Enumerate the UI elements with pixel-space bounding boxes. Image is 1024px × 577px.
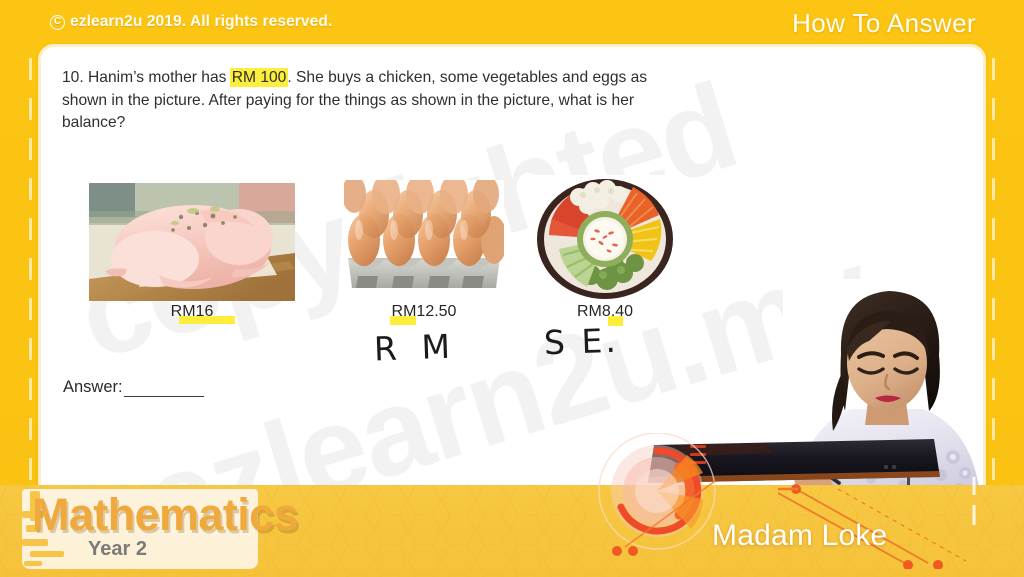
- header-bar: C ezlearn2u 2019. All rights reserved. H…: [0, 0, 1024, 48]
- caption-chicken-wrap: RM16: [89, 303, 295, 321]
- chicken-photo: [89, 183, 295, 301]
- veg-price: RM8.40: [577, 303, 633, 320]
- copyright-notice: C ezlearn2u 2019. All rights reserved.: [50, 13, 332, 31]
- slide-card: copyrighted ezlearn2u.my 10. Hanim’s mot…: [38, 44, 986, 490]
- copyright-text: ezlearn2u 2019. All rights reserved.: [70, 13, 332, 31]
- handwriting-rm: R M: [373, 327, 457, 369]
- caption-eggs-wrap: RM12.50: [344, 303, 504, 321]
- left-dashed-rail: [29, 58, 32, 528]
- subject-level: Year 2: [88, 538, 147, 561]
- presenter-name: Madam Loke: [712, 519, 887, 553]
- hud-graphic: [595, 433, 727, 565]
- question-number: 10.: [62, 69, 84, 86]
- question-highlight: RM 100: [231, 69, 288, 86]
- right-dashed-rail: [992, 58, 995, 528]
- subject-title: Mathematics: [32, 489, 298, 541]
- chicken-illustration: [89, 183, 295, 301]
- answer-row: Answer:: [63, 378, 204, 397]
- question-text: 10. Hanim’s mother has RM 100. She buys …: [62, 67, 680, 135]
- chicken-price: RM16: [171, 303, 214, 320]
- caption-veg-wrap: RM8.40: [529, 303, 681, 321]
- veg-platter-illustration: [529, 175, 681, 303]
- eggs-price: RM12.50: [392, 303, 457, 320]
- section-title: How To Answer: [792, 8, 976, 39]
- copyright-icon: C: [50, 15, 65, 30]
- eggs-photo: [344, 180, 504, 300]
- answer-blank-input[interactable]: [124, 382, 204, 397]
- slide-stage: C ezlearn2u 2019. All rights reserved. H…: [0, 0, 1024, 577]
- answer-label: Answer:: [63, 378, 123, 397]
- handwriting-se: S E.: [543, 321, 619, 363]
- question-part-1: Hanim’s mother has: [88, 69, 231, 86]
- egg-tray-illustration: [344, 180, 504, 300]
- vegetable-platter-photo: [529, 175, 681, 303]
- hud-circles-icon: [595, 433, 727, 565]
